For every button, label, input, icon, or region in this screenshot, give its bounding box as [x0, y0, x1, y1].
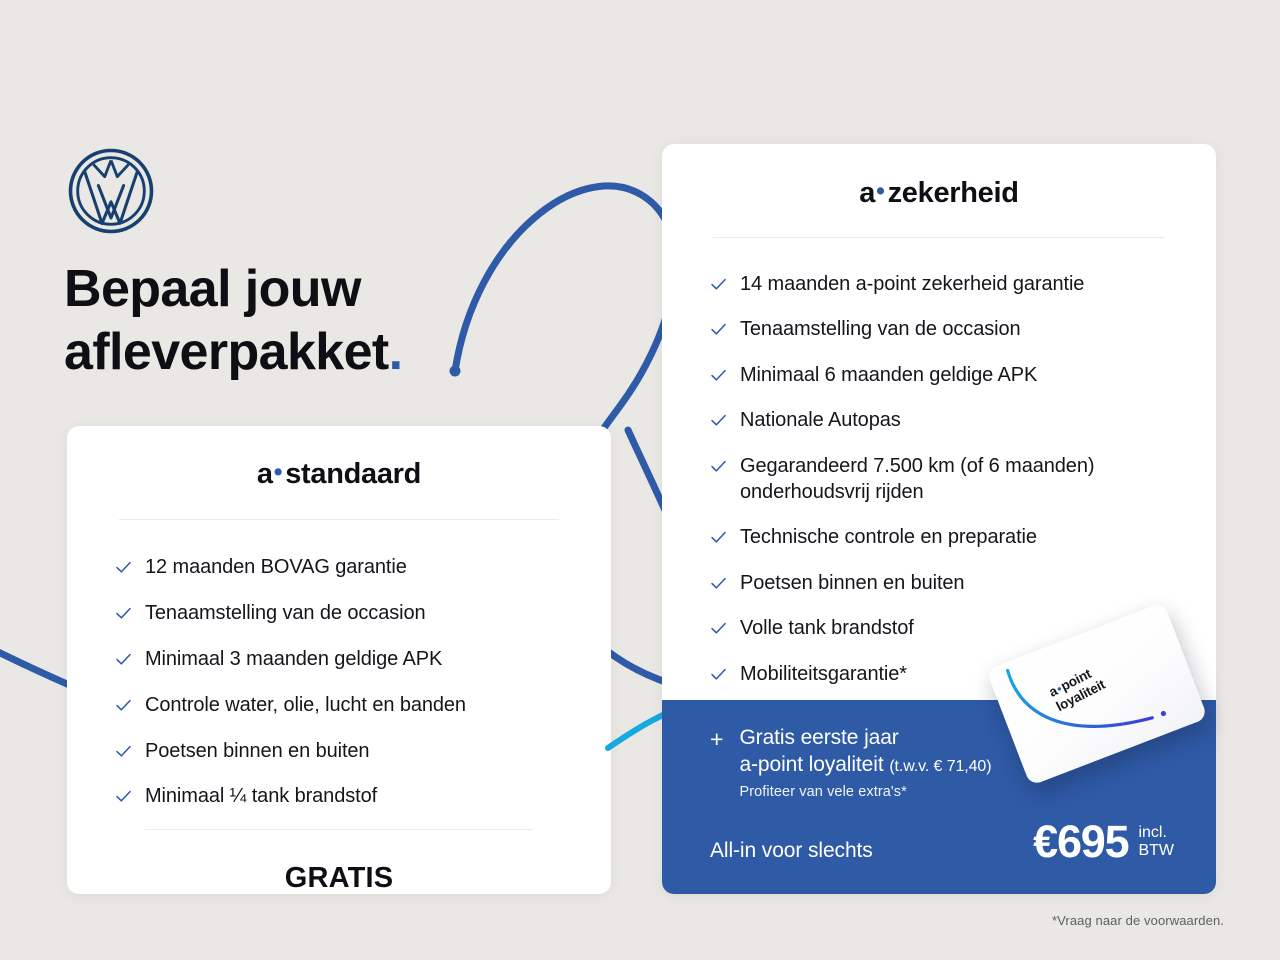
check-icon [115, 697, 132, 714]
price-vat-line-2: BTW [1138, 842, 1174, 860]
card-title-standaard: a•standaard [67, 426, 611, 491]
card-title-zekerheid: a•zekerheid [662, 144, 1216, 210]
check-icon [115, 651, 132, 668]
title-divider [119, 519, 559, 520]
card-title-text: zekerheid [888, 177, 1019, 209]
promo-canvas: Bepaal jouw afleverpakket. a•standaard 1… [0, 0, 1280, 960]
list-item: Minimaal ¼ tank brandstof [115, 783, 611, 809]
price-block: €695 incl. BTW [1033, 819, 1174, 864]
price-standaard: GRATIS [67, 862, 611, 895]
list-item: Poetsen binnen en buiten [115, 738, 611, 764]
brand-letter: a [859, 177, 875, 209]
price-amount: €695 [1033, 819, 1128, 864]
list-item-label: Minimaal 3 maanden geldige APK [145, 646, 442, 672]
list-item: Poetsen binnen en buiten [710, 570, 1216, 596]
check-icon [115, 788, 132, 805]
list-item-label: Tenaamstelling van de occasion [145, 600, 426, 626]
brand-dot-icon: • [274, 458, 282, 486]
list-item-label: Poetsen binnen en buiten [740, 570, 964, 596]
check-icon [115, 559, 132, 576]
price-vat-note: incl. BTW [1138, 824, 1174, 860]
price-row: All-in voor slechts €695 incl. BTW [662, 800, 1216, 864]
check-icon [710, 529, 727, 546]
list-item-label: Minimaal 6 maanden geldige APK [740, 362, 1037, 388]
list-item: Gegarandeerd 7.500 km (of 6 maanden) ond… [710, 453, 1138, 506]
list-item: Nationale Autopas [710, 407, 1216, 433]
check-icon [115, 605, 132, 622]
list-item: Controle water, olie, lucht en banden [115, 692, 611, 718]
bonus-line-1: Gratis eerste jaar [739, 725, 991, 752]
price-divider [145, 829, 533, 830]
headline-accent-dot: . [389, 323, 403, 381]
list-item: Tenaamstelling van de occasion [115, 600, 611, 626]
plus-icon: + [710, 728, 723, 751]
list-item: 14 maanden a-point zekerheid garantie [710, 271, 1216, 297]
bonus-value: (t.w.v. € 71,40) [889, 758, 991, 775]
feature-list-standaard: 12 maanden BOVAG garantie Tenaamstelling… [115, 554, 611, 810]
list-item: Minimaal 3 maanden geldige APK [115, 646, 611, 672]
list-item-label: 14 maanden a-point zekerheid garantie [740, 271, 1084, 297]
check-icon [710, 458, 727, 475]
volkswagen-logo [66, 146, 156, 236]
check-icon [115, 743, 132, 760]
list-item-label: Technische controle en preparatie [740, 524, 1037, 550]
check-icon [710, 575, 727, 592]
list-item: Tenaamstelling van de occasion [710, 316, 1216, 342]
check-icon [710, 666, 727, 683]
list-item-label: Minimaal ¼ tank brandstof [145, 783, 377, 809]
price-vat-line-1: incl. [1138, 824, 1174, 842]
page-title: Bepaal jouw afleverpakket. [64, 258, 584, 385]
brand-dot-icon: • [876, 177, 884, 205]
headline-line-2: afleverpakket. [64, 321, 584, 384]
check-icon [710, 276, 727, 293]
bonus-text: Gratis eerste jaar a-point loyaliteit (t… [739, 725, 991, 800]
card-title-text: standaard [285, 458, 421, 490]
check-icon [710, 412, 727, 429]
bonus-product: a-point loyaliteit [739, 753, 883, 776]
footnote: *Vraag naar de voorwaarden. [1052, 913, 1224, 928]
price-label: All-in voor slechts [710, 839, 873, 863]
headline-line-1: Bepaal jouw [64, 258, 584, 321]
check-icon [710, 321, 727, 338]
list-item-label: Gegarandeerd 7.500 km (of 6 maanden) ond… [740, 453, 1138, 506]
package-card-zekerheid[interactable]: a•zekerheid 14 maanden a-point zekerheid… [662, 144, 1216, 894]
list-item: 12 maanden BOVAG garantie [115, 554, 611, 580]
list-item: Minimaal 6 maanden geldige APK [710, 362, 1216, 388]
list-item-label: Tenaamstelling van de occasion [740, 316, 1021, 342]
package-card-standaard[interactable]: a•standaard 12 maanden BOVAG garantie Te… [67, 426, 611, 894]
list-item-label: Poetsen binnen en buiten [145, 738, 369, 764]
brand-letter: a [257, 458, 273, 490]
list-item-label: Volle tank brandstof [740, 615, 914, 641]
list-item: Technische controle en preparatie [710, 524, 1216, 550]
list-item-label: Nationale Autopas [740, 407, 901, 433]
title-divider [713, 237, 1165, 238]
list-item-label: Controle water, olie, lucht en banden [145, 692, 466, 718]
list-item-label: Mobiliteitsgarantie* [740, 661, 907, 687]
check-icon [710, 367, 727, 384]
bonus-line-2: a-point loyaliteit (t.w.v. € 71,40) [739, 752, 991, 779]
bonus-subtext: Profiteer van vele extra's* [739, 784, 991, 800]
check-icon [710, 620, 727, 637]
list-item-label: 12 maanden BOVAG garantie [145, 554, 407, 580]
